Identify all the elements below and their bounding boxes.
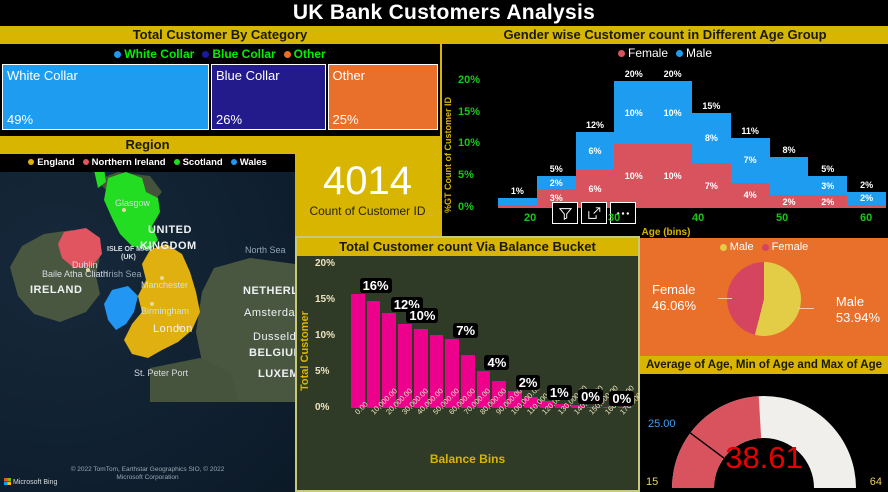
- balance-chart-card: Total Customer count Via Balance Bucket …: [295, 236, 640, 492]
- legend-dot-icon: [676, 50, 683, 57]
- dashboard-canvas: UK Bank Customers Analysis Total Custome…: [0, 0, 888, 492]
- treemap-cell-other[interactable]: Other25%: [328, 64, 439, 130]
- gender-bar-group[interactable]: 15%8%7%: [692, 68, 731, 208]
- legend-dot-icon: [174, 159, 180, 165]
- treemap-cell-blue-collar[interactable]: Blue Collar26%: [211, 64, 326, 130]
- gender-bar-segment-male[interactable]: 8%: [692, 113, 731, 164]
- age-gauge-card: Average of Age, Min of Age and Max of Ag…: [640, 356, 888, 492]
- balance-x-axis-label: Balance Bins: [297, 452, 638, 466]
- treemap-cell-name: White Collar: [7, 68, 204, 83]
- legend-item-scotland[interactable]: Scotland: [174, 154, 223, 172]
- legend-item-male[interactable]: Male: [720, 238, 754, 256]
- gender-x-tick: 30: [608, 212, 620, 224]
- map-city-dot: [160, 276, 164, 280]
- gender-bar-total-label: 20%: [614, 69, 653, 79]
- gender-y-tick: 20%: [458, 74, 480, 86]
- pie-slices[interactable]: [727, 262, 801, 336]
- balance-data-label: 10%: [406, 308, 438, 323]
- gender-bar-total-label: 1%: [498, 186, 537, 196]
- balance-bar-fill: [367, 301, 381, 408]
- gauge-max-label: 64: [870, 476, 882, 488]
- map-label: Manchester: [141, 280, 188, 290]
- gauge-min-label: 15: [646, 476, 658, 488]
- legend-item-wales[interactable]: Wales: [231, 154, 267, 172]
- gender-bar-segment-male[interactable]: 10%: [614, 81, 653, 145]
- legend-label: Other: [294, 47, 326, 61]
- legend-label: White Collar: [124, 47, 194, 61]
- gender-bar-group[interactable]: 8%2%: [770, 68, 809, 208]
- balance-bar[interactable]: [414, 264, 428, 408]
- region-map-card: Region EnglandNorthern IrelandScotlandWa…: [0, 136, 295, 492]
- kpi-label: Count of Customer ID: [309, 204, 425, 218]
- gender-bar-segment-female[interactable]: 7%: [692, 163, 731, 208]
- gender-bar-total-label: 5%: [537, 164, 576, 174]
- legend-dot-icon: [618, 50, 625, 57]
- map-label: Glasgow: [115, 198, 150, 208]
- gender-chart-legend: FemaleMale: [442, 44, 888, 62]
- legend-label: Scotland: [183, 157, 223, 168]
- map-label: Irish Sea: [106, 269, 142, 279]
- balance-data-label: 0%: [609, 391, 634, 406]
- pie-leader-line-female: [718, 298, 732, 299]
- filter-icon[interactable]: [552, 202, 578, 224]
- gender-bar-segment-female[interactable]: [498, 205, 537, 208]
- region-legend: EnglandNorthern IrelandScotlandWales: [0, 154, 295, 172]
- balance-data-label: 16%: [360, 278, 392, 293]
- region-header: Region: [0, 136, 295, 154]
- gender-bar-total-label: 11%: [731, 126, 770, 136]
- treemap-cell-percent: 49%: [7, 112, 33, 127]
- balance-data-label: 1%: [547, 385, 572, 400]
- legend-item-female[interactable]: Female: [762, 238, 809, 256]
- gender-x-tick: 20: [524, 212, 536, 224]
- gender-bar-total-label: 20%: [653, 69, 692, 79]
- legend-label: Female: [772, 241, 809, 253]
- gender-bar-group[interactable]: 20%10%10%: [614, 68, 653, 208]
- gender-x-tick: 60: [860, 212, 872, 224]
- treemap-cell-name: Blue Collar: [216, 68, 321, 83]
- legend-label: Male: [686, 46, 712, 60]
- gauge-header: Average of Age, Min of Age and Max of Ag…: [640, 356, 888, 374]
- map-label: London: [153, 323, 193, 335]
- treemap-header: Total Customer By Category: [0, 26, 440, 44]
- map-city-dot: [150, 302, 154, 306]
- treemap-cell-percent: 26%: [216, 112, 242, 127]
- gauge-target-label: 25.00: [648, 418, 676, 430]
- map-label: Birmingham: [141, 306, 189, 316]
- legend-dot-icon: [762, 244, 769, 251]
- balance-data-label: 7%: [453, 323, 478, 338]
- gender-bar-group[interactable]: 2%2%: [847, 68, 886, 208]
- legend-label: Wales: [240, 157, 267, 168]
- gender-x-tick: 50: [776, 212, 788, 224]
- map-label: UNITED: [148, 224, 192, 236]
- gender-chart-card: Gender wise Customer count in Different …: [440, 26, 888, 238]
- gender-y-tick: 10%: [458, 137, 480, 149]
- balance-y-tick: 5%: [315, 366, 329, 377]
- legend-dot-icon: [202, 51, 209, 58]
- gender-y-tick: 5%: [458, 169, 474, 181]
- map-city-dot: [122, 208, 126, 212]
- balance-bar[interactable]: [398, 264, 412, 408]
- balance-bar[interactable]: [430, 264, 444, 408]
- gender-chart-plot[interactable]: %GT Count of Customer ID 1%5%2%3%12%6%6%…: [442, 62, 888, 238]
- map-label: St. Peter Port: [134, 368, 188, 378]
- pie-label-male: Male53.94%: [836, 294, 880, 326]
- legend-item-other[interactable]: Other: [284, 44, 326, 64]
- map-regions-svg: [0, 172, 295, 492]
- treemap-cell-percent: 25%: [333, 112, 359, 127]
- legend-item-northern-ireland[interactable]: Northern Ireland: [83, 154, 166, 172]
- gender-y-tick: 0%: [458, 201, 474, 213]
- gender-bar-group[interactable]: 1%: [498, 68, 537, 208]
- treemap-legend: White CollarBlue CollarOther: [0, 44, 440, 64]
- gender-bar-segment-male[interactable]: [770, 157, 809, 195]
- balance-bar-fill: [351, 294, 365, 408]
- map-label: North Sea: [245, 245, 286, 255]
- legend-label: Female: [628, 46, 668, 60]
- balance-x-ticks: 0.0010,000.0020,000.0030,000.0040,000.00…: [351, 408, 638, 448]
- map-label: LUXEM: [258, 368, 295, 380]
- treemap-cell-white-collar[interactable]: White Collar49%: [2, 64, 209, 130]
- balance-bar[interactable]: [492, 264, 506, 408]
- gender-bar-segment-female[interactable]: [847, 205, 886, 208]
- legend-dot-icon: [114, 51, 121, 58]
- pie-leader-line-male: [798, 308, 814, 309]
- pie-legend: MaleFemale: [640, 238, 888, 256]
- gender-bar-segment-male[interactable]: 10%: [653, 81, 692, 145]
- map-label: ISLE OF MAN: [107, 246, 152, 253]
- map-city-dot: [86, 268, 90, 272]
- map-label: (UK): [121, 254, 136, 261]
- balance-chart-plot[interactable]: Total Customer 0.0010,000.0020,000.0030,…: [297, 256, 638, 470]
- balance-y-axis-label: Total Customer: [299, 286, 313, 416]
- map-label: Amsterda: [244, 307, 295, 319]
- legend-dot-icon: [28, 159, 34, 165]
- gender-bar-segment-female[interactable]: 2%: [770, 195, 809, 208]
- legend-item-female[interactable]: Female: [618, 44, 668, 62]
- legend-label: Northern Ireland: [92, 157, 166, 168]
- legend-label: Blue Collar: [212, 47, 275, 61]
- region-map[interactable]: UNITEDKINGDOMIRELANDNETHERLABELGIUMLUXEM…: [0, 172, 295, 492]
- balance-data-label: 0%: [578, 389, 603, 404]
- gender-chart-header: Gender wise Customer count in Different …: [442, 26, 888, 44]
- map-label: Baile Atha Cliath: [42, 269, 108, 279]
- balance-y-tick: 10%: [315, 330, 335, 341]
- gender-bar-segment-male[interactable]: 3%: [808, 176, 847, 195]
- gender-bar-total-label: 12%: [576, 120, 615, 130]
- gender-bar-group[interactable]: 11%7%4%: [731, 68, 770, 208]
- gauge-plot[interactable]: 38.61 25.00 15 64: [640, 374, 888, 492]
- gender-bar-total-label: 2%: [847, 180, 886, 190]
- gender-bar-segment-female[interactable]: 4%: [731, 183, 770, 208]
- legend-item-male[interactable]: Male: [676, 44, 712, 62]
- gender-bar-group[interactable]: 20%10%10%: [653, 68, 692, 208]
- pie-label-female: Female46.06%: [652, 282, 696, 314]
- gender-bar-group[interactable]: 5%2%3%: [537, 68, 576, 208]
- gender-bar-segment-male[interactable]: 2%: [847, 192, 886, 205]
- gender-chart-icons[interactable]: [552, 202, 636, 224]
- pie-plot[interactable]: Female46.06% Male53.94%: [640, 256, 888, 354]
- gender-bar-segment-male[interactable]: 6%: [576, 132, 615, 170]
- balance-y-tick: 15%: [315, 294, 335, 305]
- legend-dot-icon: [720, 244, 727, 251]
- bing-logo: Microsoft Bing: [4, 478, 57, 486]
- gender-bar-segment-male[interactable]: 2%: [537, 176, 576, 189]
- focus-mode-icon[interactable]: [581, 202, 607, 224]
- legend-item-england[interactable]: England: [28, 154, 74, 172]
- legend-item-white-collar[interactable]: White Collar: [114, 44, 194, 64]
- legend-dot-icon: [284, 51, 291, 58]
- gender-y-axis-label: %GT Count of Customer ID: [443, 80, 457, 230]
- map-label: NETHERLA: [243, 285, 295, 297]
- gender-bar-total-label: 15%: [692, 101, 731, 111]
- gender-bar-segment-male[interactable]: 7%: [731, 138, 770, 183]
- balance-y-tick: 20%: [315, 258, 335, 269]
- legend-dot-icon: [231, 159, 237, 165]
- gauge-value: 38.61: [640, 440, 888, 476]
- map-city-dot: [178, 326, 182, 330]
- balance-chart-header: Total Customer count Via Balance Bucket: [297, 238, 638, 256]
- gender-pie-card: MaleFemale Female46.06% Male53.94%: [640, 238, 888, 356]
- gender-x-tick: 40: [692, 212, 704, 224]
- gender-bar-total-label: 5%: [808, 164, 847, 174]
- gender-bar-segment-female[interactable]: 10%: [653, 144, 692, 208]
- gender-bar-segment-female[interactable]: 10%: [614, 144, 653, 208]
- balance-bar[interactable]: [477, 264, 491, 408]
- gender-bar-total-label: 8%: [770, 145, 809, 155]
- gender-bar-segment-female[interactable]: 2%: [808, 195, 847, 208]
- gender-bars[interactable]: 1%5%2%3%12%6%6%20%10%10%20%10%10%15%8%7%…: [498, 68, 886, 208]
- balance-data-label: 4%: [484, 355, 509, 370]
- treemap-plot[interactable]: White Collar49%Blue Collar26%Other25%: [2, 64, 438, 130]
- treemap-cell-name: Other: [333, 68, 434, 83]
- legend-item-blue-collar[interactable]: Blue Collar: [202, 44, 275, 64]
- map-label: Dusseldo: [253, 331, 295, 343]
- legend-label: England: [37, 157, 74, 168]
- treemap-card: Total Customer By Category White CollarB…: [0, 26, 440, 136]
- balance-data-label: 2%: [516, 375, 541, 390]
- map-label: BELGIUM: [249, 347, 295, 359]
- gender-bar-group[interactable]: 12%6%6%: [576, 68, 615, 208]
- kpi-value: 4014: [323, 160, 412, 202]
- legend-label: Male: [730, 241, 754, 253]
- page-title: UK Bank Customers Analysis: [0, 0, 888, 26]
- legend-dot-icon: [83, 159, 89, 165]
- map-label: IRELAND: [30, 284, 82, 296]
- gender-y-tick: 15%: [458, 106, 480, 118]
- gender-bar-group[interactable]: 5%3%2%: [808, 68, 847, 208]
- balance-y-tick: 0%: [315, 402, 329, 413]
- microsoft-logo-icon: [4, 478, 11, 485]
- kpi-card: 4014 Count of Customer ID: [295, 136, 440, 242]
